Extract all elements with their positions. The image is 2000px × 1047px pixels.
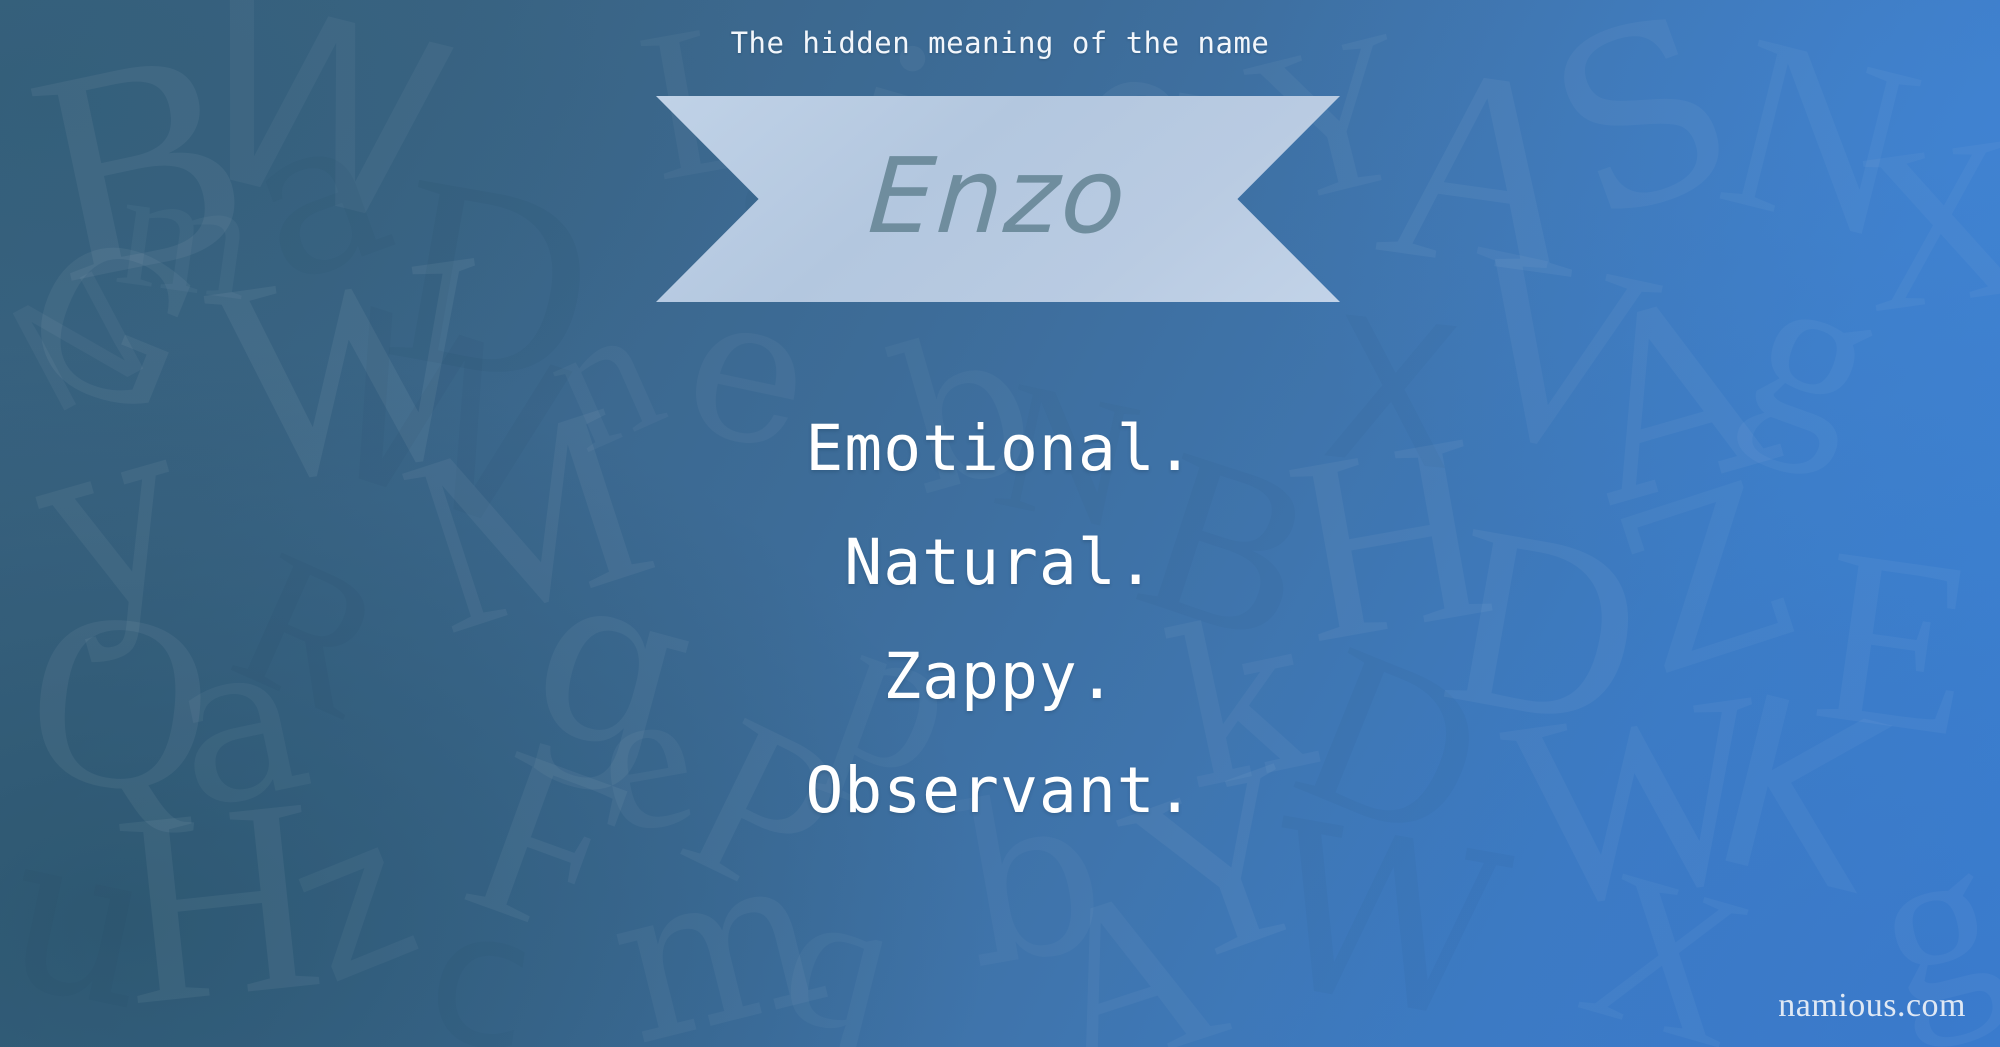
site-watermark: namious.com: [1778, 987, 1966, 1025]
trait-list: Emotional.Natural.Zappy.Observant.: [0, 392, 2000, 848]
trait-item: Natural.: [0, 506, 2000, 620]
name-text: Enzo: [649, 96, 1347, 302]
name-meaning-card: BWamGWNDWyQaRHuzMgeFmcPneLjagYASNXVAgXHB…: [0, 0, 2000, 1047]
trait-item: Emotional.: [0, 392, 2000, 506]
page-title: The hidden meaning of the name: [0, 26, 2000, 60]
trait-item: Zappy.: [0, 620, 2000, 734]
trait-item: Observant.: [0, 734, 2000, 848]
name-banner: Enzo: [656, 96, 1340, 302]
background-letter: c: [420, 899, 542, 1047]
